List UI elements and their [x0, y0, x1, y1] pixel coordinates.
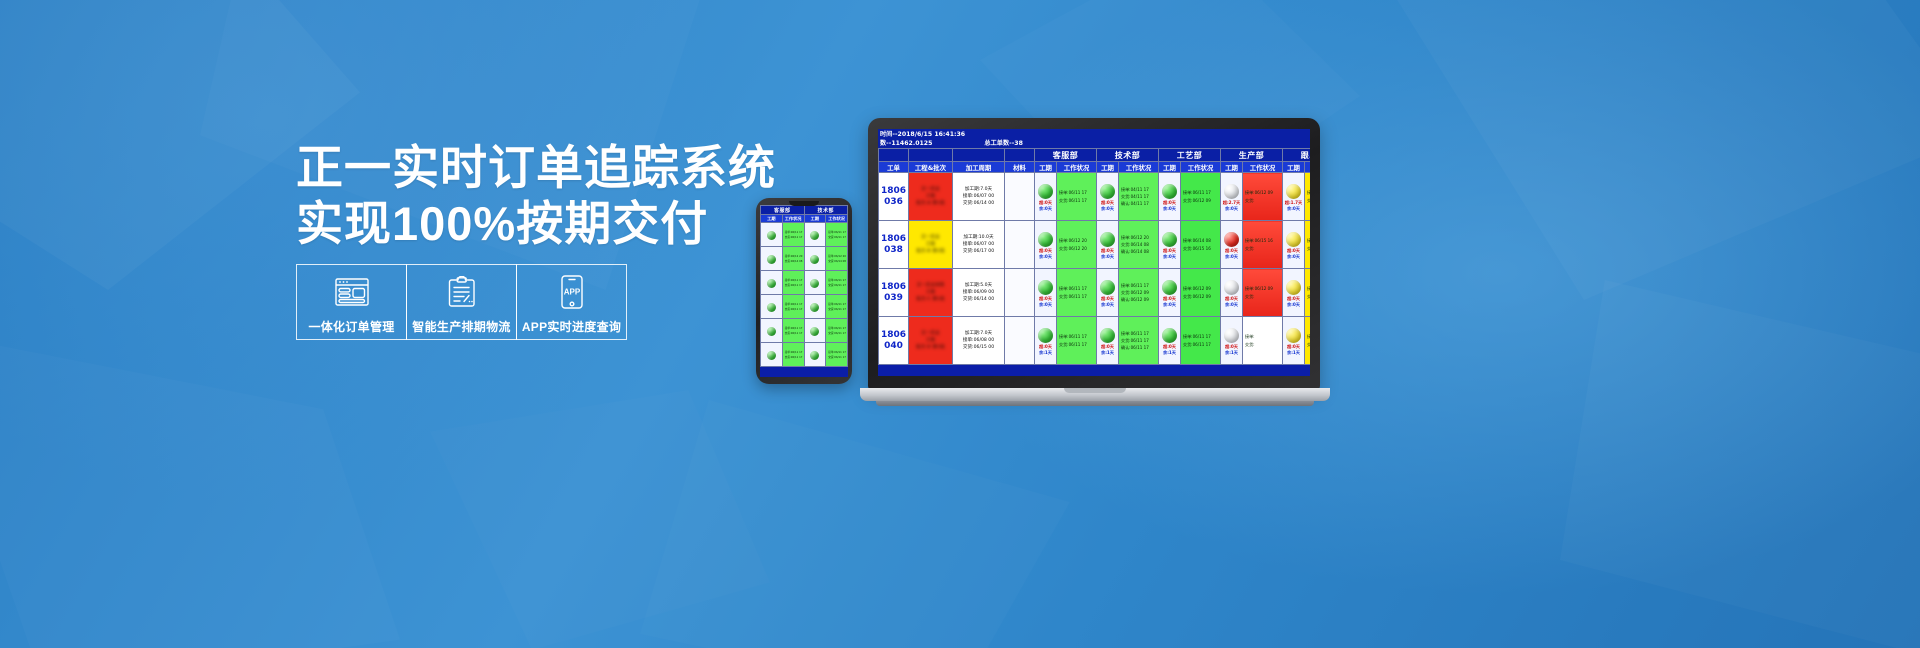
duration-cell: 超:0天余:0天 [1097, 221, 1119, 269]
remaining-days-badge: 余:0天 [1283, 302, 1304, 308]
status-lamp-grey [1224, 280, 1239, 295]
status-lamp-green [810, 327, 819, 336]
col-project-batch: 工程&批次 [909, 162, 953, 173]
status-date: 接单:06/11 17 [826, 278, 847, 283]
duration-cell: 超:0天余:0天 [1159, 269, 1181, 317]
status-date: 交货:04/11 17 [1119, 193, 1158, 200]
status-date: 交货: [1243, 245, 1282, 252]
lamp-wrap: 超:0天余:1天 [1159, 326, 1180, 356]
order-number-top: 1806 [879, 186, 908, 197]
phone-table-row[interactable]: 接单:06/11 17交货:06/11 17接单:06/11 17交货:06/1… [761, 343, 848, 367]
phone-duration-cell [804, 223, 826, 247]
duration-cell: 超:0天余:0天 [1221, 221, 1243, 269]
col-duration: 工期 [1097, 162, 1119, 173]
duration-cell: 超:0天余:0天 [1035, 269, 1057, 317]
lamp-wrap: 超:0天余:1天 [1035, 326, 1056, 356]
col-material: 材料 [1005, 162, 1035, 173]
phone-work-status-cell: 接单:06/11 17交货:06/11 17 [782, 271, 804, 295]
duration-cell: 超:0天余:0天 [1283, 269, 1305, 317]
laptop-lid: 时间--2018/6/15 16:41:36 数--11462.0125 总工单… [868, 118, 1320, 390]
status-lamp-yellow [1286, 232, 1301, 247]
work-status-cell: 接单:交货: [1243, 317, 1283, 365]
remaining-days-badge: 余:0天 [1159, 302, 1180, 308]
remaining-days-badge: 余:1天 [1159, 350, 1180, 356]
phone-duration-cell [761, 319, 783, 343]
phone-work-status-cell: 接单:06/11 17交货:06/11 17 [782, 295, 804, 319]
phone-col-status: 工作状况 [782, 215, 804, 223]
feature-card-mobile-app[interactable]: APP APP实时进度查询 [516, 264, 627, 340]
lamp-wrap: 超:0天余:0天 [1159, 230, 1180, 260]
phone-work-status-cell: 接单:06/11 17交货:06/11 17 [782, 319, 804, 343]
lamp-wrap: 超:1.7天余:0天 [1283, 182, 1304, 212]
lamp-wrap: 超:0天余:1天 [1097, 326, 1118, 356]
status-date: 交货:06/11 17 [783, 235, 804, 240]
status-lamp-green [767, 351, 776, 360]
table-row[interactable]: 1806039正一实业有限 工程 批次-C 第1批加工期:5.0天接单:06/0… [879, 269, 1311, 317]
status-lamp-green [767, 279, 776, 288]
remaining-days-badge: 余:0天 [1221, 206, 1242, 212]
work-status-cell: 接单:06/12 09交货:06/12 09 [1181, 269, 1221, 317]
phone-duration-cell [804, 343, 826, 367]
work-status-cell: 接单:06/14 08交货:06/15 16 [1181, 221, 1221, 269]
app-badge-text: APP [563, 287, 580, 296]
order-number-top: 1806 [879, 330, 908, 341]
status-lamp-grey [1224, 328, 1239, 343]
duration-cell: 超:0天余:1天 [1159, 317, 1181, 365]
work-status-cell: 接单:04/11 17交货:04/11 17确认:04/11 17 [1119, 173, 1159, 221]
phone-table-row[interactable]: 接单:06/11 17交货:06/11 17接单:06/11 17交货:06/1… [761, 319, 848, 343]
lamp-wrap: 超:0天余:0天 [1221, 278, 1242, 308]
col-order: 工单 [879, 162, 909, 173]
phone-table-head: 客服部 技术部 工期 工作状况 工期 工作状况 [761, 206, 848, 223]
cycle-cell: 加工期:10.0天接单:06/07 00交货:06/17 00 [953, 221, 1005, 269]
status-date: 接单: [1305, 285, 1310, 292]
material-cell [1005, 173, 1035, 221]
duration-cell: 超:0天余:1天 [1221, 317, 1243, 365]
info-spacer [932, 139, 984, 148]
remaining-days-badge: 余:0天 [1097, 254, 1118, 260]
status-date: 确认:06/11 17 [1119, 344, 1158, 351]
phone-table-row[interactable]: 接单:06/11 17交货:06/11 17接单:06/11 17交货:06/1… [761, 223, 848, 247]
status-date: 接单: [1243, 333, 1282, 340]
status-date: 交货:06/11 17 [783, 283, 804, 288]
dashboard-count: 数--11462.0125 [880, 139, 932, 148]
status-date: 接单:06/11 17 [783, 302, 804, 307]
bg-polygon [1560, 280, 1920, 648]
status-date: 交货: [1305, 197, 1310, 204]
remaining-days-badge: 余:1天 [1097, 350, 1118, 356]
col-duration: 工期 [1159, 162, 1181, 173]
material-cell [1005, 221, 1035, 269]
laptop-screen[interactable]: 时间--2018/6/15 16:41:36 数--11462.0125 总工单… [878, 129, 1310, 376]
phone-dashboard-table: 客服部 技术部 工期 工作状况 工期 工作状况 接单:06/11 17交货:06… [760, 205, 848, 367]
phone-dept-header: 客服部 [761, 206, 805, 215]
duration-cell: 超:0天余:0天 [1221, 269, 1243, 317]
remaining-days-badge: 余:0天 [1283, 254, 1304, 260]
status-lamp-green [1038, 232, 1053, 247]
phone-work-status-cell: 接单:06/11 17交货:06/11 17 [826, 271, 848, 295]
project-batch-cell: 正一实业有限 工程 批次-C 第1批 [909, 269, 953, 317]
status-date: 交货:06/12 09 [1119, 289, 1158, 296]
status-date: 接单:06/12 20 [826, 254, 847, 259]
phone-col-duration: 工期 [804, 215, 826, 223]
phone-work-status-cell: 接单:06/11 17交货:06/11 17 [826, 343, 848, 367]
phone-dept-header-row: 客服部 技术部 [761, 206, 848, 215]
work-status-cell: 接单:交货: [1305, 173, 1311, 221]
table-row[interactable]: 1806040正一实业 工程 批次-D 第3批加工期:7.0天接单:06/08 … [879, 317, 1311, 365]
project-batch-text: 正一实业 工程 批次-A 第1批 [909, 183, 952, 210]
phone-dashboard: 客服部 技术部 工期 工作状况 工期 工作状况 接单:06/11 17交货:06… [760, 205, 848, 377]
status-lamp-green [1162, 232, 1177, 247]
remaining-days-badge: 余:0天 [1097, 206, 1118, 212]
col-cycle: 加工周期 [953, 162, 1005, 173]
status-date: 接单:06/12 20 [1057, 237, 1096, 244]
lamp-wrap: 超:2.7天余:0天 [1221, 182, 1242, 212]
lamp-wrap: 超:0天余:0天 [1097, 278, 1118, 308]
phone-work-status-cell: 接单:06/12 20交货:06/14 08 [826, 247, 848, 271]
feature-label: APP实时进度查询 [522, 318, 621, 335]
status-date: 确认:04/11 17 [1119, 200, 1158, 207]
status-lamp-green [1038, 184, 1053, 199]
status-date: 接单:06/11 17 [826, 230, 847, 235]
duration-cell: 超:0天余:0天 [1097, 173, 1119, 221]
status-date: 交货: [1243, 197, 1282, 204]
project-batch-text: 正一实业有限 工程 批次-C 第1批 [909, 279, 952, 306]
due-date: 交货:06/14 00 [953, 296, 1004, 303]
bg-polygon [0, 330, 400, 648]
status-lamp-green [810, 255, 819, 264]
status-date: 交货: [1243, 341, 1282, 348]
status-date: 交货:06/11 17 [1181, 341, 1220, 348]
order-number-bottom: 040 [879, 341, 908, 352]
status-lamp-green [1038, 328, 1053, 343]
status-date: 接单:06/11 17 [783, 350, 804, 355]
duration-cell: 超:0天余:0天 [1035, 173, 1057, 221]
status-date: 交货:06/14 08 [826, 259, 847, 264]
status-date: 交货:06/14 08 [783, 259, 804, 264]
status-lamp-red [1224, 232, 1239, 247]
lamp-wrap: 超:0天余:0天 [1221, 230, 1242, 260]
dashboard-total-orders: 总工单数--38 [984, 139, 1023, 148]
status-date: 交货:06/11 17 [826, 283, 847, 288]
status-date: 交货:06/15 16 [1181, 245, 1220, 252]
remaining-days-badge: 余:0天 [1283, 206, 1304, 212]
status-date: 接单:06/11 17 [783, 230, 804, 235]
duration-cell: 超:0天余:0天 [1283, 221, 1305, 269]
status-date: 交货:06/11 17 [783, 307, 804, 312]
status-date: 交货:06/12 09 [1181, 197, 1220, 204]
work-status-cell: 接单:06/15 16交货: [1243, 221, 1283, 269]
phone-table-row[interactable]: 接单:06/12 20交货:06/14 08接单:06/12 20交货:06/1… [761, 247, 848, 271]
dashboard-info-row-2: 数--11462.0125 总工单数--38 [880, 139, 1308, 148]
order-number-bottom: 036 [879, 197, 908, 208]
cycle-days: 加工期:5.0天 [953, 282, 1004, 289]
status-lamp-grey [1224, 184, 1239, 199]
work-status-cell: 接单:06/11 17交货:06/11 17 [1057, 317, 1097, 365]
status-date: 交货:06/11 17 [1057, 197, 1096, 204]
phone-work-status-cell: 接单:06/11 17交货:06/11 17 [782, 343, 804, 367]
project-batch-cell: 正一实业 工程 批次-A 第1批 [909, 173, 953, 221]
duration-cell: 超:0天余:0天 [1159, 173, 1181, 221]
cycle-days: 加工期:7.0天 [953, 186, 1004, 193]
dashboard-info-bar: 时间--2018/6/15 16:41:36 数--11462.0125 总工单… [878, 129, 1310, 148]
feature-card-order-management[interactable]: 一体化订单管理 [296, 264, 407, 340]
phone-duration-cell [761, 295, 783, 319]
dashboard: 时间--2018/6/15 16:41:36 数--11462.0125 总工单… [878, 129, 1310, 376]
duration-cell: 超:1.7天余:0天 [1283, 173, 1305, 221]
receive-date: 接单:06/09 00 [953, 289, 1004, 296]
phone-body: 客服部 技术部 工期 工作状况 工期 工作状况 接单:06/11 17交货:06… [756, 198, 852, 384]
table-row[interactable]: 1806038正一实业 工程 批次-B 第2批加工期:10.0天接单:06/07… [879, 221, 1311, 269]
phone-duration-cell [804, 271, 826, 295]
dashboard-time: 时间--2018/6/15 16:41:36 [880, 130, 965, 139]
status-date: 确认:06/12 09 [1119, 296, 1158, 303]
cycle-cell: 加工期:7.0天接单:06/08 00交货:06/15 00 [953, 317, 1005, 365]
order-number-top: 1806 [879, 234, 908, 245]
order-number-bottom: 038 [879, 245, 908, 256]
remaining-days-badge: 余:1天 [1283, 350, 1304, 356]
laptop-base [860, 388, 1330, 401]
lamp-wrap: 超:0天余:0天 [1283, 278, 1304, 308]
status-lamp-yellow [1286, 184, 1301, 199]
phone-notch [789, 201, 819, 206]
duration-cell: 超:0天余:1天 [1283, 317, 1305, 365]
work-status-cell: 接单:交货: [1305, 269, 1311, 317]
status-date: 交货:06/12 09 [1181, 293, 1220, 300]
status-lamp-green [767, 255, 776, 264]
order-management-icon [335, 274, 369, 310]
status-date: 接单:06/12 09 [1243, 189, 1282, 196]
status-date: 交货:06/11 17 [826, 307, 847, 312]
phone-table-row[interactable]: 接单:06/11 17交货:06/11 17接单:06/11 17交货:06/1… [761, 271, 848, 295]
lamp-wrap: 超:0天余:1天 [1221, 326, 1242, 356]
status-date: 交货:06/11 17 [826, 235, 847, 240]
status-date: 接单:06/12 09 [1181, 285, 1220, 292]
status-date: 确认:06/14 08 [1119, 248, 1158, 255]
bg-polygon [1380, 0, 1920, 300]
bg-polygon [430, 390, 770, 648]
status-date: 接单:06/15 16 [1243, 237, 1282, 244]
col-duration: 工期 [1035, 162, 1057, 173]
dept-header-merchandising: 跟单部 [1283, 149, 1311, 162]
phone-duration-cell [761, 343, 783, 367]
work-status-cell: 接单:06/11 17交货:06/11 17确认:06/11 17 [1119, 317, 1159, 365]
work-status-cell: 接单:06/12 20交货:06/14 08确认:06/14 08 [1119, 221, 1159, 269]
duration-cell: 超:0天余:0天 [1097, 269, 1119, 317]
work-status-cell: 接单:交货: [1305, 221, 1311, 269]
status-date: 交货: [1305, 293, 1310, 300]
phone-screen[interactable]: 客服部 技术部 工期 工作状况 工期 工作状况 接单:06/11 17交货:06… [760, 205, 848, 377]
status-date: 交货: [1305, 245, 1310, 252]
col-group-project [909, 149, 953, 162]
status-date: 接单:06/11 17 [1181, 333, 1220, 340]
receive-date: 接单:06/07 00 [953, 193, 1004, 200]
status-lamp-green [1038, 280, 1053, 295]
col-group-order [879, 149, 909, 162]
phone-work-status-cell: 接单:06/11 17交货:06/11 17 [826, 319, 848, 343]
status-date: 接单: [1305, 189, 1310, 196]
duration-cell: 超:2.7天余:0天 [1221, 173, 1243, 221]
status-date: 接单:06/12 20 [783, 254, 804, 259]
phone-table-body: 接单:06/11 17交货:06/11 17接单:06/11 17交货:06/1… [761, 223, 848, 367]
status-lamp-green [1100, 184, 1115, 199]
status-date: 接单:06/11 17 [783, 278, 804, 283]
status-date: 交货:06/14 08 [1119, 241, 1158, 248]
cycle-cell: 加工期:5.0天接单:06/09 00交货:06/14 00 [953, 269, 1005, 317]
status-lamp-green [1162, 184, 1177, 199]
order-number-cell: 1806036 [879, 173, 909, 221]
status-date: 交货:06/11 17 [1057, 293, 1096, 300]
mobile-app-icon: APP [560, 274, 584, 310]
duration-cell: 超:0天余:0天 [1159, 221, 1181, 269]
col-status: 工作状况 [1243, 162, 1283, 173]
dashboard-table: 客服部 技术部 工艺部 生产部 跟单部 工单 工程&批次 加工周期 材料 [878, 148, 1310, 365]
phone-duration-cell [761, 247, 783, 271]
status-date: 交货:06/11 17 [826, 331, 847, 336]
status-date: 接单:06/11 17 [1119, 282, 1158, 289]
order-number-cell: 1806040 [879, 317, 909, 365]
clipboard-schedule-icon [447, 274, 477, 310]
lamp-wrap: 超:0天余:0天 [1097, 182, 1118, 212]
status-date: 接单:06/11 17 [826, 302, 847, 307]
status-date: 接单:06/11 17 [1181, 189, 1220, 196]
work-status-cell: 接单:06/11 17交货:06/11 17 [1057, 173, 1097, 221]
status-date: 交货:06/11 17 [826, 355, 847, 360]
feature-list: 一体化订单管理 智能生产排期物流 [296, 264, 626, 340]
status-date: 接单: [1305, 333, 1310, 340]
phone-work-status-cell: 接单:06/11 17交货:06/11 17 [782, 223, 804, 247]
phone-sub-header-row: 工期 工作状况 工期 工作状况 [761, 215, 848, 223]
project-batch-text: 正一实业 工程 批次-B 第2批 [909, 231, 952, 258]
remaining-days-badge: 余:0天 [1035, 302, 1056, 308]
status-date: 交货: [1243, 293, 1282, 300]
dept-header-technical: 技术部 [1097, 149, 1159, 162]
feature-label: 一体化订单管理 [308, 318, 394, 335]
status-date: 接单:06/11 17 [1057, 189, 1096, 196]
phone-work-status-cell: 接单:06/12 20交货:06/14 08 [782, 247, 804, 271]
phone-dept-header: 技术部 [804, 206, 848, 215]
sub-header-row: 工单 工程&批次 加工周期 材料 工期 工作状况 工期 工作状况 工期 工作状况 [879, 162, 1311, 173]
work-status-cell: 接单:06/12 09交货: [1243, 173, 1283, 221]
status-lamp-green [1162, 328, 1177, 343]
status-lamp-green [1162, 280, 1177, 295]
phone-device: 客服部 技术部 工期 工作状况 工期 工作状况 接单:06/11 17交货:06… [756, 198, 852, 384]
dashboard-info-row-1: 时间--2018/6/15 16:41:36 [880, 130, 1308, 139]
material-cell [1005, 317, 1035, 365]
status-lamp-green [767, 231, 776, 240]
duration-cell: 超:0天余:1天 [1097, 317, 1119, 365]
dept-header-customer-service: 客服部 [1035, 149, 1097, 162]
col-status: 工作状况 [1305, 162, 1311, 173]
receive-date: 接单:06/08 00 [953, 337, 1004, 344]
status-date: 交货:06/11 17 [1057, 341, 1096, 348]
remaining-days-badge: 余:0天 [1097, 302, 1118, 308]
status-lamp-green [810, 279, 819, 288]
phone-duration-cell [804, 295, 826, 319]
due-date: 交货:06/14 00 [953, 200, 1004, 207]
remaining-days-badge: 余:0天 [1159, 254, 1180, 260]
work-status-cell: 接单:06/11 17交货:06/11 17 [1057, 269, 1097, 317]
lamp-wrap: 超:0天余:0天 [1159, 278, 1180, 308]
material-cell [1005, 269, 1035, 317]
lamp-wrap: 超:0天余:1天 [1283, 326, 1304, 356]
status-lamp-green [767, 303, 776, 312]
status-lamp-green [810, 303, 819, 312]
phone-col-status: 工作状况 [826, 215, 848, 223]
status-date: 接单: [1305, 237, 1310, 244]
order-number-bottom: 039 [879, 293, 908, 304]
feature-label: 智能生产排期物流 [412, 318, 510, 335]
status-lamp-yellow [1286, 280, 1301, 295]
status-date: 接单:06/14 08 [1181, 237, 1220, 244]
status-date: 接单:04/11 17 [1119, 186, 1158, 193]
lamp-wrap: 超:0天余:0天 [1159, 182, 1180, 212]
status-lamp-green [1100, 328, 1115, 343]
dept-header-row: 客服部 技术部 工艺部 生产部 跟单部 [879, 149, 1311, 162]
phone-work-status-cell: 接单:06/11 17交货:06/11 17 [826, 295, 848, 319]
cycle-days: 加工期:7.0天 [953, 330, 1004, 337]
phone-col-duration: 工期 [761, 215, 783, 223]
due-date: 交货:06/15 00 [953, 344, 1004, 351]
status-date: 交货:06/11 17 [1119, 337, 1158, 344]
lamp-wrap: 超:0天余:0天 [1097, 230, 1118, 260]
cycle-cell: 加工期:7.0天接单:06/07 00交货:06/14 00 [953, 173, 1005, 221]
phone-duration-cell [761, 271, 783, 295]
status-lamp-green [1100, 232, 1115, 247]
project-batch-cell: 正一实业 工程 批次-D 第3批 [909, 317, 953, 365]
work-status-cell: 接单:06/12 09交货: [1243, 269, 1283, 317]
remaining-days-badge: 余:1天 [1035, 350, 1056, 356]
status-date: 接单:06/11 17 [1057, 285, 1096, 292]
work-status-cell: 接单:06/12 20交货:06/12 20 [1057, 221, 1097, 269]
lamp-wrap: 超:0天余:0天 [1035, 278, 1056, 308]
duration-cell: 超:0天余:1天 [1035, 317, 1057, 365]
col-status: 工作状况 [1181, 162, 1221, 173]
phone-duration-cell [804, 247, 826, 271]
remaining-days-badge: 余:0天 [1221, 254, 1242, 260]
status-date: 接单:06/12 09 [1243, 285, 1282, 292]
due-date: 交货:06/17 00 [953, 248, 1004, 255]
status-lamp-yellow [1286, 328, 1301, 343]
status-lamp-green [767, 327, 776, 336]
phone-table-row[interactable]: 接单:06/11 17交货:06/11 17接单:06/11 17交货:06/1… [761, 295, 848, 319]
work-status-cell: 接单:交货: [1305, 317, 1311, 365]
project-batch-cell: 正一实业 工程 批次-B 第2批 [909, 221, 953, 269]
status-date: 接单:06/11 17 [1057, 333, 1096, 340]
status-date: 交货:06/11 17 [783, 331, 804, 336]
dept-header-production: 生产部 [1221, 149, 1283, 162]
phone-duration-cell [761, 223, 783, 247]
bg-polygon [640, 400, 1070, 648]
dashboard-table-head: 客服部 技术部 工艺部 生产部 跟单部 工单 工程&批次 加工周期 材料 [879, 149, 1311, 173]
col-status: 工作状况 [1057, 162, 1097, 173]
laptop-base-foot [876, 401, 1314, 406]
laptop-device: 时间--2018/6/15 16:41:36 数--11462.0125 总工单… [860, 118, 1330, 418]
status-date: 接单:06/11 17 [783, 326, 804, 331]
status-date: 接单:06/12 20 [1119, 234, 1158, 241]
order-number-cell: 1806039 [879, 269, 909, 317]
feature-card-smart-scheduling[interactable]: 智能生产排期物流 [406, 264, 517, 340]
hero-banner: 正一实时订单追踪系统 实现100%按期交付 一体化订单管理 [0, 0, 1920, 648]
status-lamp-green [1100, 280, 1115, 295]
table-row[interactable]: 1806036正一实业 工程 批次-A 第1批加工期:7.0天接单:06/07 … [879, 173, 1311, 221]
remaining-days-badge: 余:0天 [1221, 302, 1242, 308]
remaining-days-badge: 余:1天 [1221, 350, 1242, 356]
dashboard-table-body: 1806036正一实业 工程 批次-A 第1批加工期:7.0天接单:06/07 … [879, 173, 1311, 365]
lamp-wrap: 超:0天余:0天 [1035, 230, 1056, 260]
work-status-cell: 接单:06/11 17交货:06/11 17 [1181, 317, 1221, 365]
work-status-cell: 接单:06/11 17交货:06/12 09确认:06/12 09 [1119, 269, 1159, 317]
